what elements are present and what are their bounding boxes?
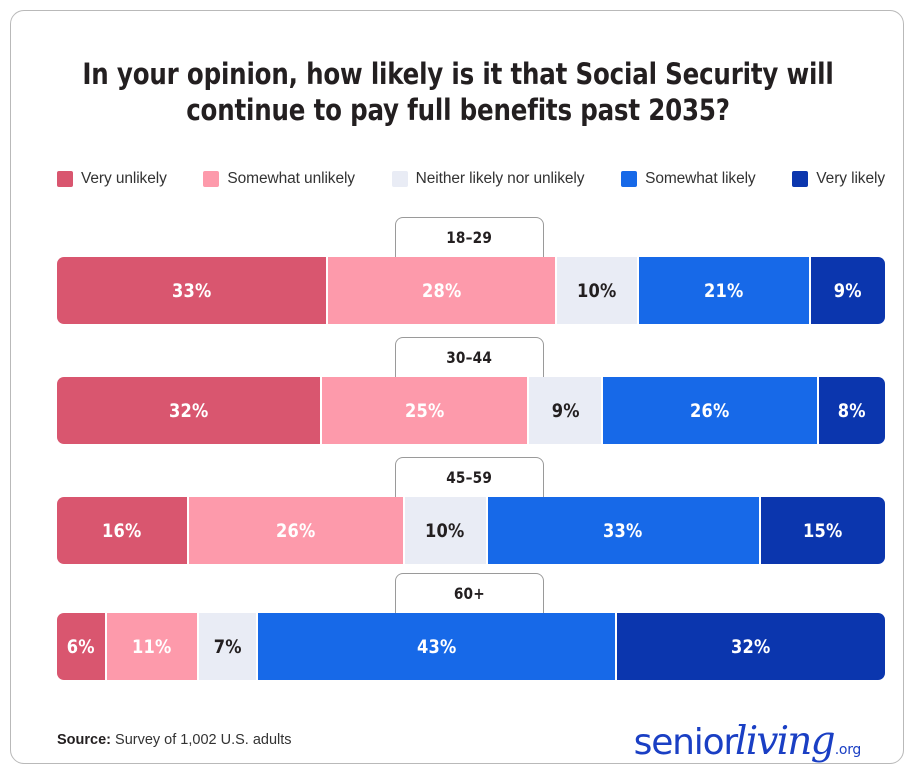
bar-segment-value: 11% [132, 636, 171, 658]
bar-segment[interactable]: 43% [258, 613, 618, 680]
bar-segment[interactable]: 9% [811, 257, 885, 324]
bar-segment-value: 33% [172, 280, 211, 302]
stacked-bar: 16%26%10%33%15% [57, 497, 885, 564]
bar-segment-value: 15% [803, 520, 842, 542]
logo-text-org: .org [835, 742, 861, 758]
chart-plot-area: 33%28%10%21%9%18–2932%25%9%26%8%30–4416%… [11, 11, 903, 763]
age-group-tab: 18–29 [395, 217, 544, 257]
bar-segment[interactable]: 8% [819, 377, 885, 444]
chart-row-2: 16%26%10%33%15%45–59 [57, 497, 885, 564]
bar-segment[interactable]: 32% [617, 613, 885, 680]
age-group-label: 45–59 [447, 468, 493, 487]
bar-segment-value: 6% [67, 636, 95, 658]
age-group-tab: 60+ [395, 573, 544, 613]
chart-row-1: 32%25%9%26%8%30–44 [57, 377, 885, 444]
bar-segment-value: 43% [417, 636, 456, 658]
chart-card: In your opinion, how likely is it that S… [10, 10, 904, 764]
bar-segment-value: 33% [603, 520, 642, 542]
logo-text-senior: senior [634, 722, 737, 763]
bar-segment[interactable]: 11% [107, 613, 199, 680]
bar-segment[interactable]: 10% [405, 497, 488, 564]
source-note: Source: Survey of 1,002 U.S. adults [57, 732, 292, 748]
bar-segment[interactable]: 10% [557, 257, 639, 324]
bar-segment[interactable]: 33% [57, 257, 328, 324]
bar-segment[interactable]: 33% [488, 497, 761, 564]
bar-segment-value: 26% [690, 400, 729, 422]
bar-segment[interactable]: 9% [529, 377, 604, 444]
bar-segment-value: 9% [551, 400, 579, 422]
age-group-tab: 45–59 [395, 457, 544, 497]
age-group-label: 18–29 [447, 228, 493, 247]
chart-row-3: 6%11%7%43%32%60+ [57, 613, 885, 680]
logo-text-living: living [735, 719, 834, 764]
stacked-bar: 6%11%7%43%32% [57, 613, 885, 680]
bar-segment[interactable]: 7% [199, 613, 258, 680]
bar-segment-value: 7% [213, 636, 241, 658]
bar-segment[interactable]: 16% [57, 497, 189, 564]
source-label: Source: [57, 732, 111, 748]
bar-segment-value: 10% [425, 520, 464, 542]
stacked-bar: 32%25%9%26%8% [57, 377, 885, 444]
age-group-label: 60+ [454, 584, 485, 603]
bar-segment-value: 32% [169, 400, 208, 422]
bar-segment-value: 28% [422, 280, 461, 302]
bar-segment-value: 8% [838, 400, 866, 422]
bar-segment-value: 21% [704, 280, 743, 302]
chart-row-0: 33%28%10%21%9%18–29 [57, 257, 885, 324]
bar-segment-value: 9% [834, 280, 862, 302]
bar-segment[interactable]: 15% [761, 497, 885, 564]
bar-segment[interactable]: 28% [328, 257, 558, 324]
bar-segment-value: 16% [103, 520, 142, 542]
bar-segment[interactable]: 21% [639, 257, 811, 324]
age-group-label: 30–44 [447, 348, 493, 367]
bar-segment[interactable]: 26% [603, 377, 818, 444]
bar-segment[interactable]: 32% [57, 377, 322, 444]
bar-segment-value: 32% [731, 636, 770, 658]
seniorliving-logo[interactable]: seniorliving.org [634, 719, 861, 763]
age-group-tab: 30–44 [395, 337, 544, 377]
bar-segment-value: 26% [276, 520, 315, 542]
stacked-bar: 33%28%10%21%9% [57, 257, 885, 324]
bar-segment[interactable]: 26% [189, 497, 404, 564]
bar-segment[interactable]: 25% [322, 377, 529, 444]
source-value: Survey of 1,002 U.S. adults [111, 732, 292, 748]
bar-segment-value: 10% [577, 280, 616, 302]
bar-segment-value: 25% [405, 400, 444, 422]
bar-segment[interactable]: 6% [57, 613, 107, 680]
